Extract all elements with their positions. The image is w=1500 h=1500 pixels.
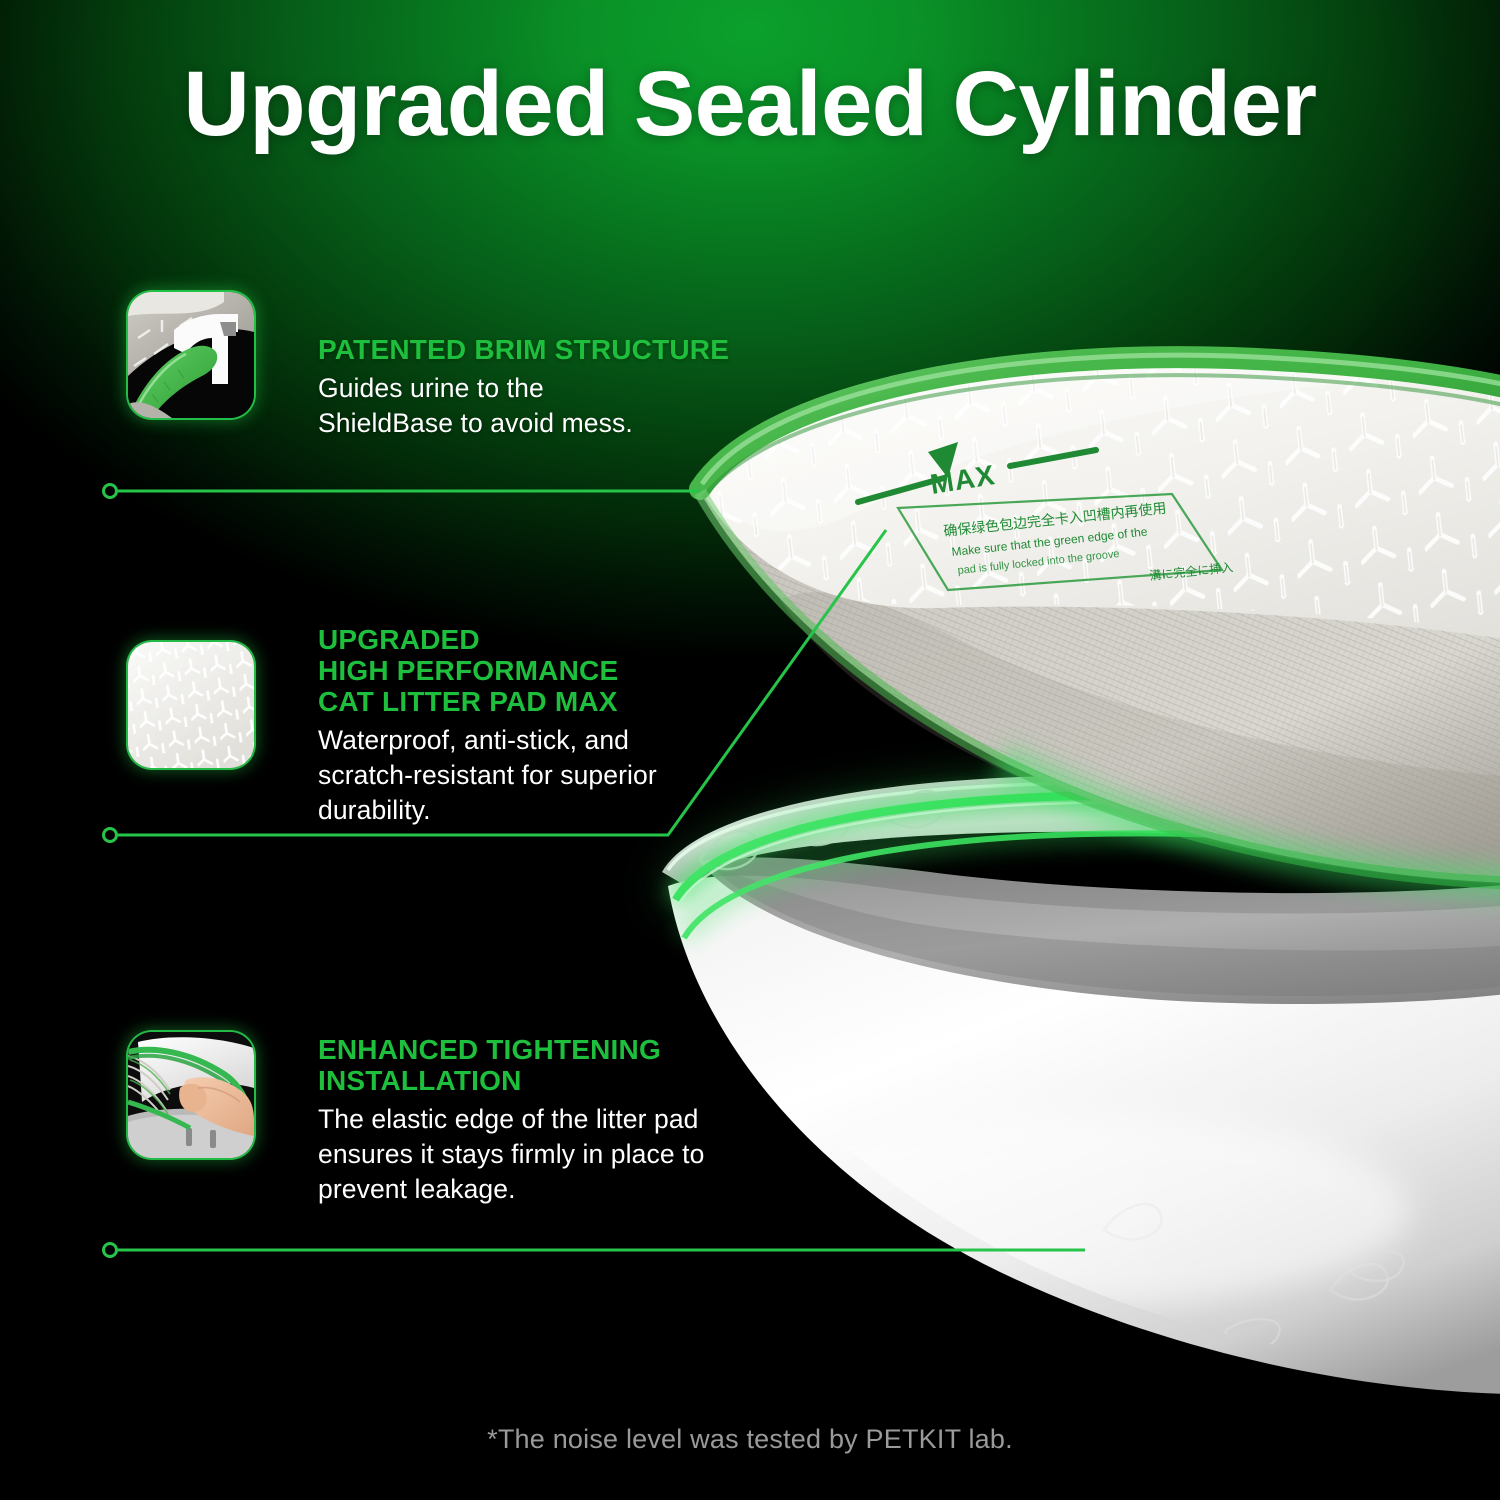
feature-body: The elastic edge of the litter pad ensur… bbox=[318, 1102, 838, 1207]
litter-pad-texture-thumbnail[interactable] bbox=[128, 642, 254, 768]
feature-body: Waterproof, anti-stick, and scratch-resi… bbox=[318, 723, 798, 828]
feature-heading: UPGRADED HIGH PERFORMANCE CAT LITTER PAD… bbox=[318, 624, 798, 717]
feature-heading: PATENTED BRIM STRUCTURE bbox=[318, 334, 798, 365]
feature-heading: ENHANCED TIGHTENING INSTALLATION bbox=[318, 1034, 838, 1096]
footnote: *The noise level was tested by PETKIT la… bbox=[0, 1424, 1500, 1455]
feature-body: Guides urine to the ShieldBase to avoid … bbox=[318, 371, 798, 441]
hand-installing-pad-thumbnail[interactable] bbox=[128, 1032, 254, 1158]
brim-cross-section-thumbnail[interactable] bbox=[128, 292, 254, 418]
